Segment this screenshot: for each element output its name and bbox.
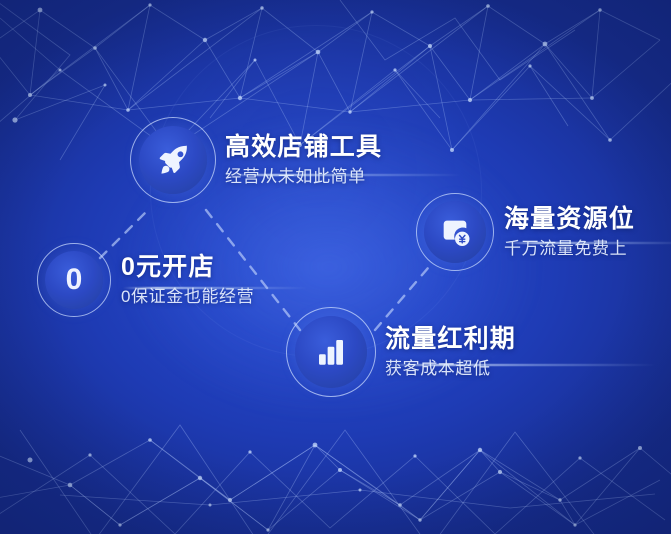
bar-chart-icon: [313, 334, 349, 370]
feature-subtitle: 0保证金也能经营: [121, 288, 254, 307]
text-glow-streak: [227, 174, 462, 176]
feature-resources-texts: 海量资源位 千万流量免费上: [504, 206, 635, 259]
feature-title: 高效店铺工具: [225, 134, 382, 161]
feature-traffic-texts: 流量红利期 获客成本超低: [385, 326, 516, 379]
text-glow-streak: [506, 242, 671, 244]
feature-subtitle: 获客成本超低: [385, 360, 516, 379]
feature-resources[interactable]: 海量资源位 千万流量免费上: [424, 201, 635, 263]
wallet-icon-circle: [424, 201, 486, 263]
feature-title: 0元开店: [121, 254, 254, 281]
feature-shop-tools[interactable]: 高效店铺工具 经营从未如此简单: [139, 126, 382, 194]
zero-icon-circle: 0: [45, 251, 103, 309]
feature-title: 海量资源位: [504, 206, 635, 233]
feature-title: 流量红利期: [385, 326, 516, 353]
feature-subtitle: 经营从未如此简单: [225, 168, 382, 187]
bar-chart-icon-circle: [295, 316, 367, 388]
feature-zero-cost-texts: 0元开店 0保证金也能经营: [121, 254, 254, 307]
rocket-icon-circle: [139, 126, 207, 194]
text-glow-streak: [123, 287, 308, 289]
feature-zero-cost[interactable]: 0 0元开店 0保证金也能经营: [45, 251, 254, 309]
promo-banner: 高效店铺工具 经营从未如此简单 0 0元开店 0保证金也能经营: [0, 0, 671, 534]
feature-shop-tools-texts: 高效店铺工具 经营从未如此简单: [225, 134, 382, 187]
zero-icon: 0: [66, 265, 83, 295]
rocket-icon: [155, 142, 191, 178]
wallet-yuan-icon: [438, 215, 472, 249]
text-glow-streak: [387, 364, 657, 366]
feature-traffic[interactable]: 流量红利期 获客成本超低: [295, 316, 516, 388]
